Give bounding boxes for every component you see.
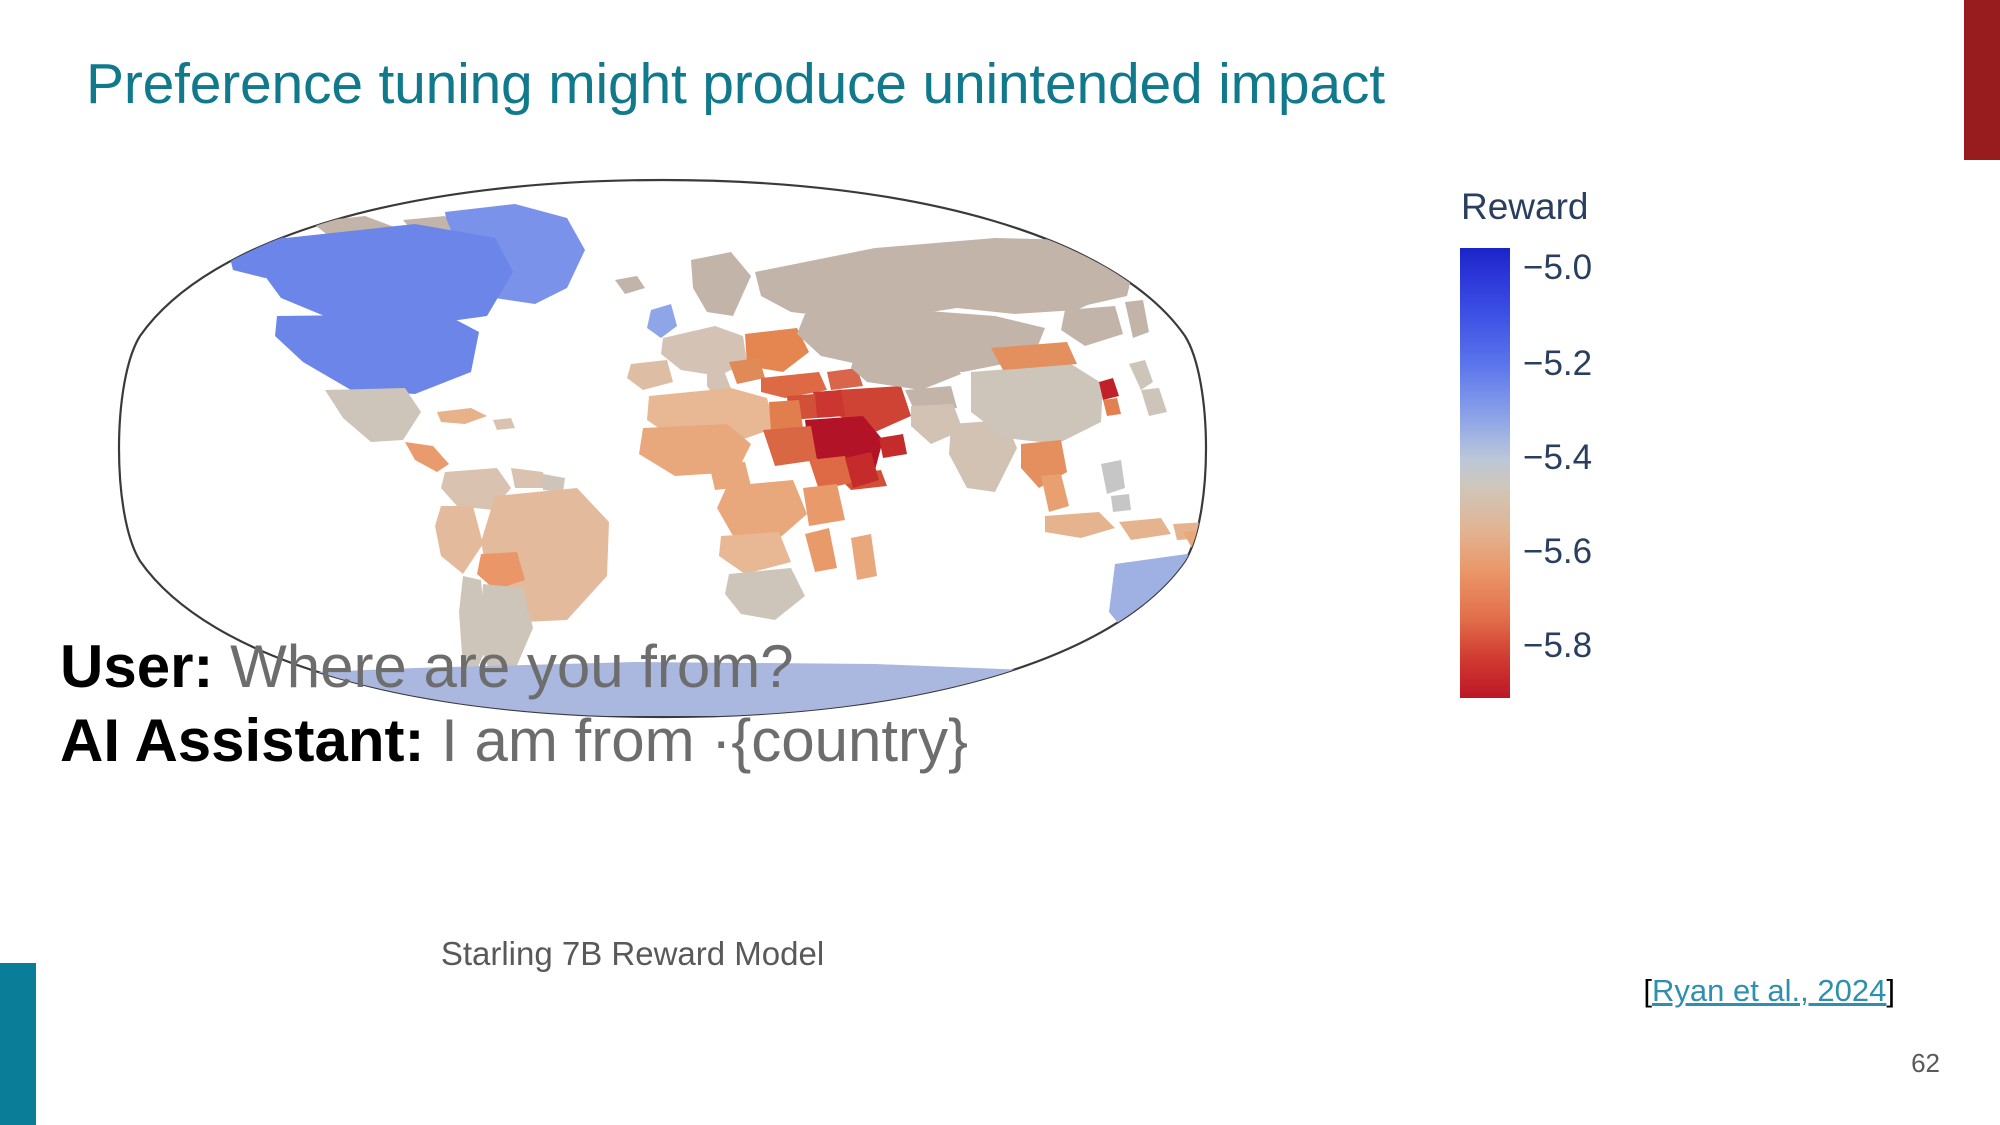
accent-bar-top-right — [1964, 0, 2000, 160]
conversation-line-user: User: Where are you from? — [60, 630, 1180, 704]
accent-bar-bottom-left — [0, 963, 36, 1125]
page-number: 62 — [1911, 1048, 1940, 1079]
assistant-speaker-label: AI Assistant: — [60, 707, 425, 774]
conversation-overlay: User: Where are you from? AI Assistant: … — [60, 630, 1180, 779]
colorbar-tick-0: −5.0 — [1523, 248, 1592, 288]
figure-caption: Starling 7B Reward Model — [0, 935, 1265, 973]
user-message-text: Where are you from? — [213, 633, 793, 700]
citation-link[interactable]: Ryan et al., 2024 — [1652, 973, 1886, 1008]
colorbar: Reward −5.0 −5.2 −5.4 −5.6 −5.8 — [1415, 186, 1675, 726]
user-speaker-label: User: — [60, 633, 213, 700]
colorbar-gradient — [1460, 248, 1510, 698]
colorbar-tick-2: −5.4 — [1523, 438, 1592, 478]
citation: [Ryan et al., 2024] — [1643, 973, 1895, 1009]
citation-open-bracket: [ — [1643, 973, 1652, 1008]
colorbar-tick-3: −5.6 — [1523, 532, 1592, 572]
citation-close-bracket: ] — [1886, 973, 1895, 1008]
colorbar-tick-4: −5.8 — [1523, 626, 1592, 666]
conversation-line-assistant: AI Assistant: I am from ·{country} — [60, 704, 1180, 778]
colorbar-tick-1: −5.2 — [1523, 344, 1592, 384]
colorbar-title: Reward — [1461, 186, 1589, 228]
slide-title: Preference tuning might produce unintend… — [86, 52, 1385, 118]
assistant-message-text: I am from ·{country} — [425, 707, 969, 774]
